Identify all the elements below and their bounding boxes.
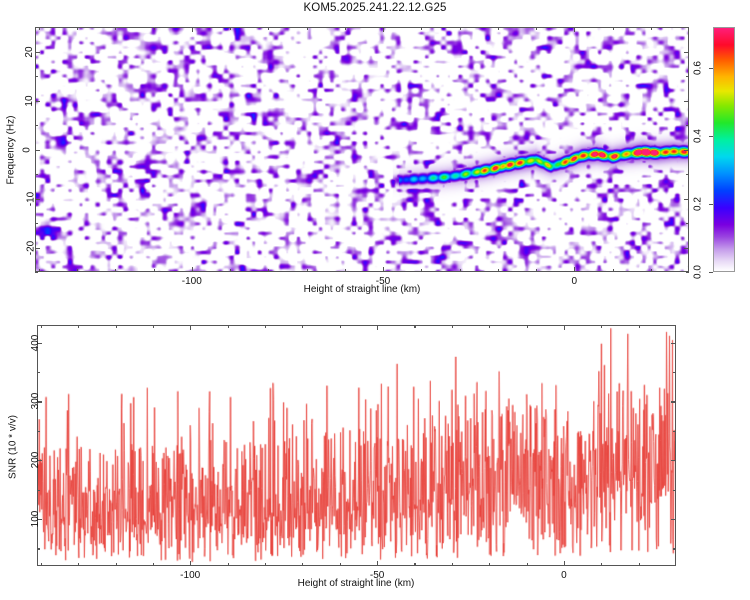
colorbar-tick-label: 0.0 [692, 265, 703, 279]
x-tick-minor [115, 269, 116, 272]
x-tick-minor-top [639, 325, 640, 328]
y-tick-major [35, 52, 40, 53]
y-tick-minor [37, 490, 40, 491]
x-tick-minor-top [78, 325, 79, 328]
y-tick-major-right [671, 401, 676, 402]
x-tick-minor-top [601, 325, 602, 328]
x-tick-minor-top [421, 27, 422, 30]
x-tick-minor [613, 269, 614, 272]
x-tick-major-top [574, 27, 575, 32]
x-tick-minor [116, 563, 117, 566]
x-tick-label: 0 [561, 570, 567, 581]
colorbar-tick-label: 0.4 [692, 129, 703, 143]
x-tick-minor-top [460, 27, 461, 30]
y-tick-label: 0 [21, 147, 32, 153]
page-title: KOM5.2025.241.22.12.G25 [0, 2, 750, 14]
spectrogram-yaxis-title: Frequency (Hz) [6, 116, 17, 185]
y-tick-major [35, 101, 40, 102]
spectrogram-plot-area [35, 27, 689, 272]
x-tick-minor-top [527, 325, 528, 328]
x-tick-label: -100 [182, 276, 202, 287]
x-tick-major-top [377, 325, 378, 330]
x-tick-minor-top [452, 325, 453, 328]
x-tick-minor-top [340, 325, 341, 328]
x-tick-minor-top [489, 325, 490, 328]
x-tick-minor-top [41, 325, 42, 328]
y-tick-label: 200 [30, 452, 41, 469]
x-tick-major [383, 267, 384, 272]
x-tick-minor-top [268, 27, 269, 30]
x-tick-minor-top [116, 325, 117, 328]
x-tick-minor-top [228, 325, 229, 328]
y-tick-major-right [671, 519, 676, 520]
y-tick-minor [37, 372, 40, 373]
y-tick-label: -10 [26, 191, 37, 205]
x-tick-major [574, 267, 575, 272]
y-tick-minor [35, 27, 38, 28]
x-tick-major [564, 561, 565, 566]
y-tick-minor [35, 174, 38, 175]
y-tick-label: 400 [30, 334, 41, 351]
x-tick-minor-top [307, 27, 308, 30]
x-tick-minor [41, 563, 42, 566]
y-tick-major-right [684, 150, 689, 151]
colorbar-tick [709, 272, 713, 273]
x-tick-minor [498, 269, 499, 272]
x-tick-minor [536, 269, 537, 272]
y-tick-minor-right [686, 27, 689, 28]
x-tick-minor-top [302, 325, 303, 328]
x-tick-minor [268, 269, 269, 272]
y-tick-major-right [684, 199, 689, 200]
x-tick-minor [228, 563, 229, 566]
y-tick-minor [37, 431, 40, 432]
x-tick-minor [452, 563, 453, 566]
x-tick-minor [153, 563, 154, 566]
x-tick-label: -100 [180, 570, 200, 581]
x-tick-minor [414, 563, 415, 566]
y-tick-minor-right [686, 174, 689, 175]
y-tick-minor-right [673, 431, 676, 432]
y-tick-minor [37, 548, 40, 549]
x-tick-minor [651, 269, 652, 272]
snr-plot-area [37, 325, 676, 566]
x-tick-major [192, 267, 193, 272]
y-tick-major-right [684, 101, 689, 102]
y-tick-minor-right [686, 125, 689, 126]
y-tick-major-right [671, 343, 676, 344]
y-tick-label: 10 [24, 95, 35, 106]
spectrogram-xaxis-title: Height of straight line (km) [304, 284, 421, 295]
y-tick-minor-right [686, 76, 689, 77]
x-tick-major-top [192, 27, 193, 32]
colorbar [713, 27, 735, 272]
y-tick-minor [35, 125, 38, 126]
x-tick-label: 0 [572, 276, 578, 287]
colorbar-tick [709, 136, 713, 137]
x-tick-minor-top [230, 27, 231, 30]
x-tick-major [377, 561, 378, 566]
y-tick-minor [35, 223, 38, 224]
y-tick-label: 300 [30, 393, 41, 410]
x-tick-minor [460, 269, 461, 272]
y-tick-minor-right [673, 490, 676, 491]
y-tick-minor [35, 76, 38, 77]
x-tick-minor-top [536, 27, 537, 30]
y-tick-label: 20 [24, 46, 35, 57]
x-tick-minor [265, 563, 266, 566]
x-tick-minor-top [115, 27, 116, 30]
x-tick-minor-top [498, 27, 499, 30]
x-tick-minor-top [414, 325, 415, 328]
x-tick-minor [340, 563, 341, 566]
x-tick-minor [39, 269, 40, 272]
x-tick-minor [421, 269, 422, 272]
y-tick-minor-right [686, 223, 689, 224]
snr-yaxis-title: SNR (10 * v/v) [8, 415, 19, 479]
x-tick-minor [78, 563, 79, 566]
snr-canvas [38, 326, 675, 565]
colorbar-gradient [714, 28, 734, 271]
colorbar-tick [709, 204, 713, 205]
x-tick-major [190, 561, 191, 566]
x-tick-minor [230, 269, 231, 272]
y-tick-major-right [684, 248, 689, 249]
y-tick-major-right [684, 52, 689, 53]
colorbar-tick [709, 68, 713, 69]
x-tick-major-top [383, 27, 384, 32]
x-tick-minor [345, 269, 346, 272]
colorbar-tick-label: 0.6 [692, 61, 703, 75]
x-tick-minor [527, 563, 528, 566]
spectrogram-canvas [36, 28, 688, 271]
x-tick-minor-top [651, 27, 652, 30]
x-tick-minor [489, 563, 490, 566]
y-tick-major-right [671, 460, 676, 461]
y-tick-major [35, 150, 40, 151]
x-tick-minor-top [265, 325, 266, 328]
x-tick-minor-top [345, 27, 346, 30]
y-tick-minor-right [673, 548, 676, 549]
x-tick-minor [601, 563, 602, 566]
x-tick-minor-top [39, 27, 40, 30]
x-tick-minor-top [154, 27, 155, 30]
snr-xaxis-title: Height of straight line (km) [298, 578, 415, 589]
x-tick-minor [154, 269, 155, 272]
x-tick-minor-top [613, 27, 614, 30]
x-tick-major-top [564, 325, 565, 330]
y-tick-minor-right [686, 272, 689, 273]
x-tick-minor [77, 269, 78, 272]
x-tick-minor-top [153, 325, 154, 328]
y-tick-label: 100 [30, 511, 41, 528]
y-tick-label: -20 [26, 240, 37, 254]
x-tick-minor-top [77, 27, 78, 30]
colorbar-tick-label: 0.2 [692, 197, 703, 211]
y-tick-minor [35, 272, 38, 273]
y-tick-minor-right [673, 372, 676, 373]
x-tick-minor [639, 563, 640, 566]
x-tick-minor [307, 269, 308, 272]
x-tick-minor [302, 563, 303, 566]
x-tick-major-top [190, 325, 191, 330]
